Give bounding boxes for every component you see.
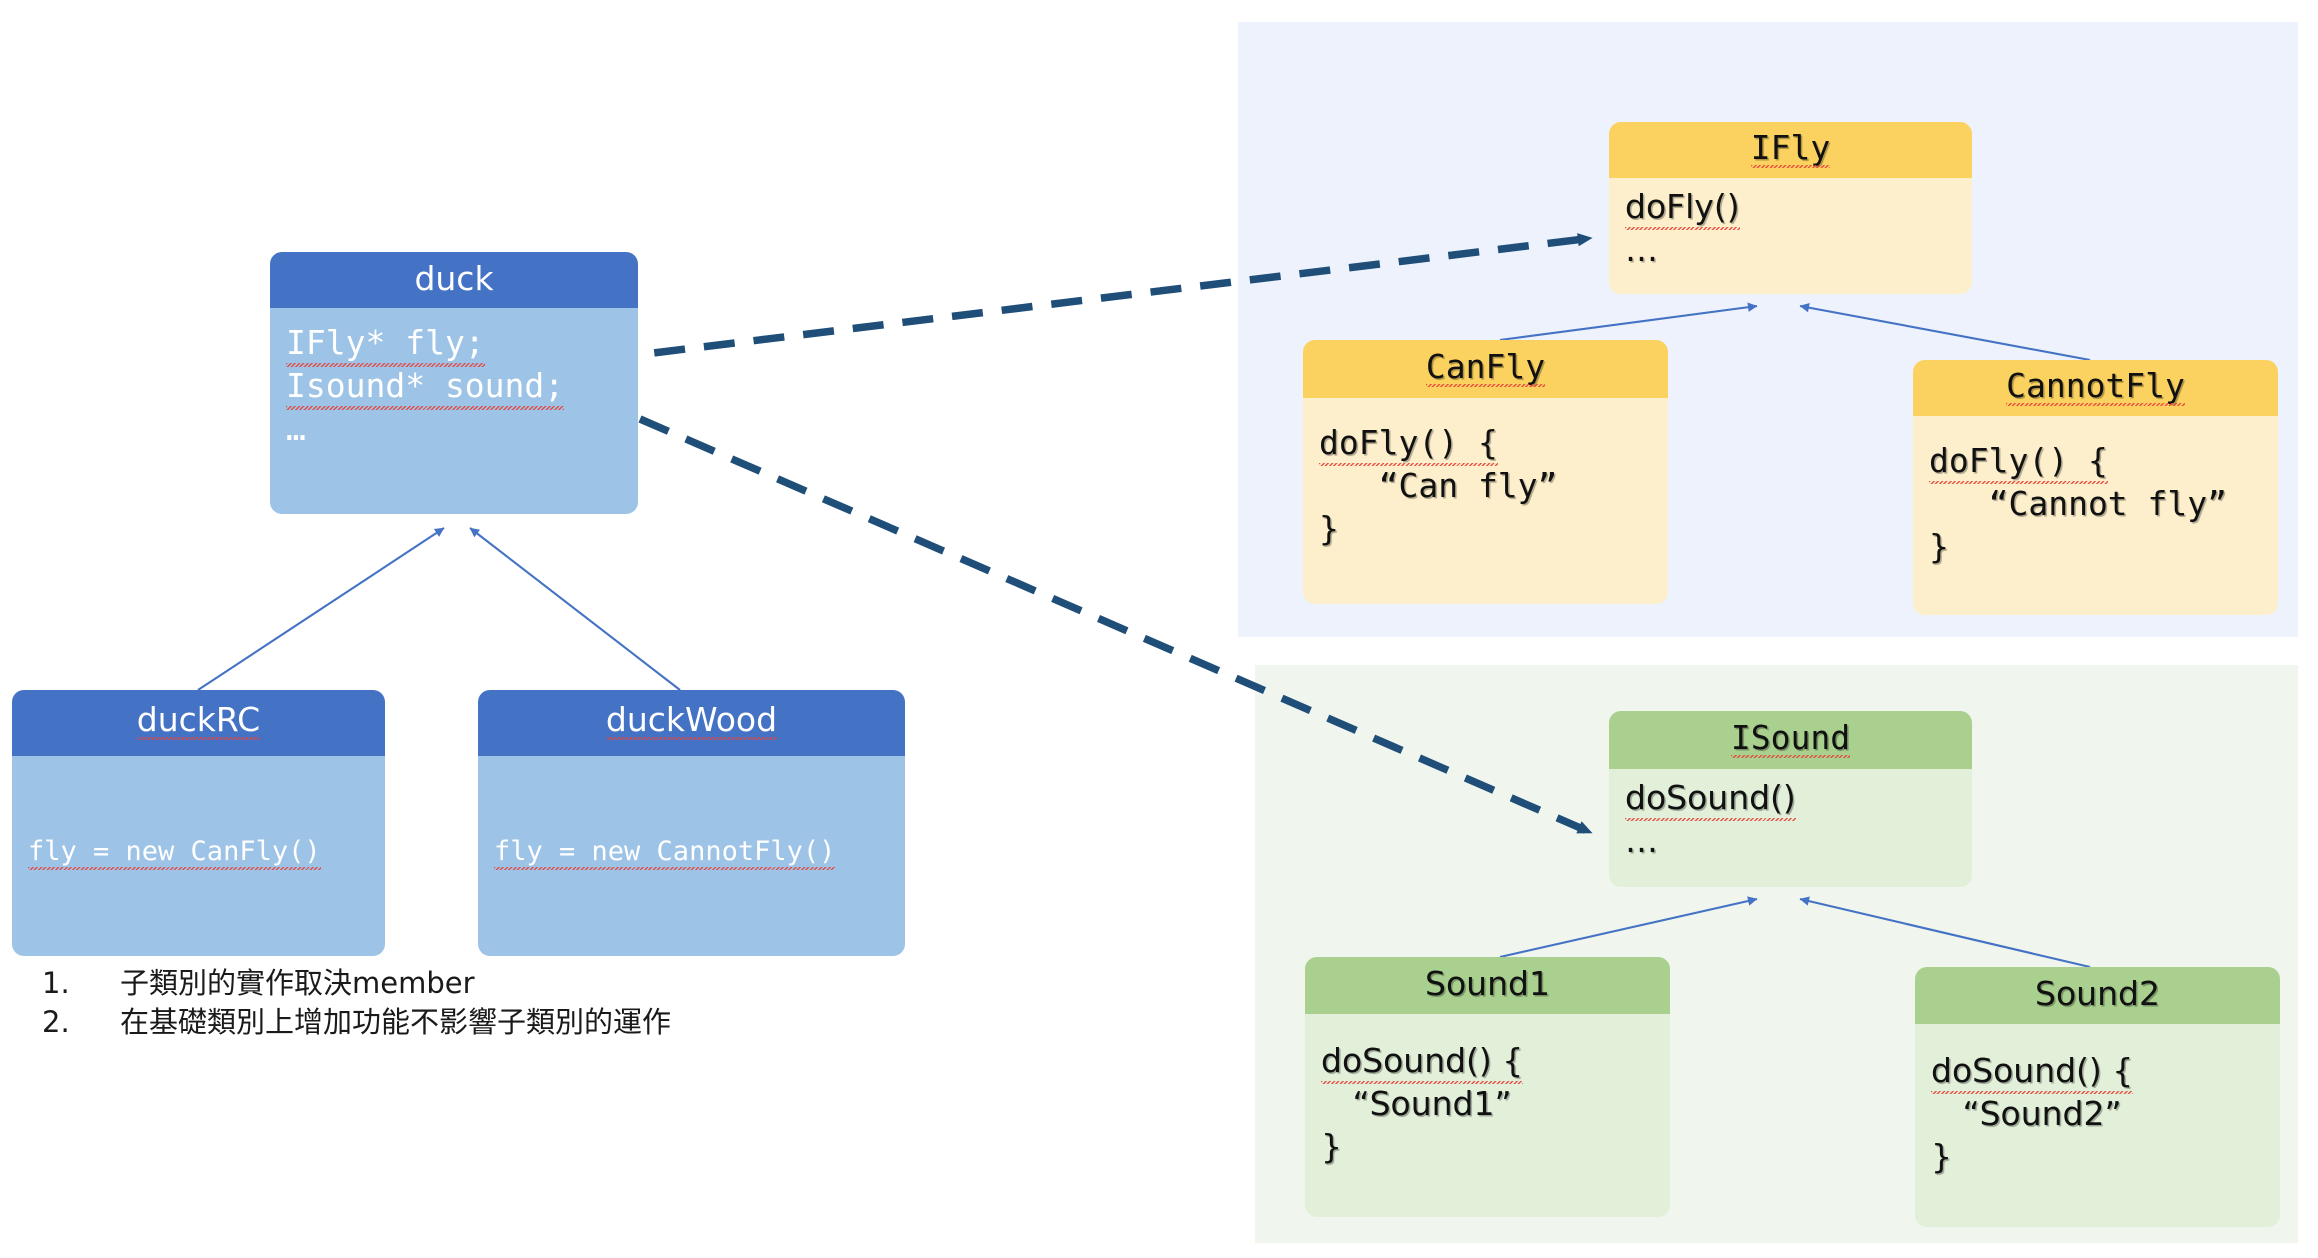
class-box-cannotfly[interactable]: CannotFly doFly() { “Cannot fly” }: [1913, 360, 2278, 615]
member-canfly-close: }: [1319, 509, 1339, 548]
class-members-isound: doSound() …: [1609, 769, 1972, 887]
class-name-sound2: Sound2: [1915, 967, 2280, 1024]
member-ellipsis-duck: …: [286, 409, 306, 448]
note-text: 子類別的實作取決member: [120, 964, 671, 1003]
class-name-duckwood: duckWood: [478, 690, 905, 756]
class-name-ifly: IFly: [1609, 122, 1972, 178]
class-name-duck: duck: [270, 252, 638, 308]
note-text: 在基礎類別上增加功能不影響子類別的運作: [120, 1003, 671, 1042]
class-members-duckrc: fly = new CanFly(): [12, 756, 385, 956]
class-name-cannotfly: CannotFly: [1913, 360, 2278, 416]
edge-duckrc-to-duck: [198, 528, 444, 690]
class-box-duckrc[interactable]: duckRC fly = new CanFly(): [12, 690, 385, 956]
note-item: 1. 子類別的實作取決member: [42, 964, 671, 1003]
class-box-duckwood[interactable]: duckWood fly = new CannotFly(): [478, 690, 905, 956]
note-number: 1.: [42, 964, 120, 1003]
class-name-isound: ISound: [1609, 711, 1972, 769]
class-members-ifly: doFly() …: [1609, 178, 1972, 294]
member-dosound-sound2: doSound() {: [1931, 1050, 2133, 1093]
edge-duckwood-to-duck: [470, 528, 680, 690]
note-item: 2. 在基礎類別上增加功能不影響子類別的運作: [42, 1003, 671, 1042]
member-dofly: doFly(): [1625, 186, 1740, 229]
member-dofly-cannotfly: doFly() {: [1929, 440, 2108, 483]
class-members-canfly: doFly() { “Can fly” }: [1303, 398, 1668, 604]
class-members-duck: IFly* fly; Isound* sound; …: [270, 308, 638, 514]
member-isound-sound: Isound* sound;: [286, 365, 564, 408]
member-ifly-fly: IFly* fly;: [286, 322, 485, 365]
diagram-canvas: duck IFly* fly; Isound* sound; … duckRC …: [0, 0, 2318, 1258]
member-sound1-close: }: [1321, 1127, 1342, 1166]
class-name-duckrc: duckRC: [12, 690, 385, 756]
member-sound2-literal: “Sound2”: [1931, 1094, 2122, 1133]
class-members-duckwood: fly = new CannotFly(): [478, 756, 905, 956]
member-sound1-literal: “Sound1”: [1321, 1084, 1512, 1123]
member-cannotfly-close: }: [1929, 527, 1949, 566]
member-canfly-literal: “Can fly”: [1319, 466, 1557, 505]
member-ellipsis-ifly: …: [1625, 230, 1658, 269]
class-name-canfly: CanFly: [1303, 340, 1668, 398]
class-box-canfly[interactable]: CanFly doFly() { “Can fly” }: [1303, 340, 1668, 604]
class-members-cannotfly: doFly() { “Cannot fly” }: [1913, 416, 2278, 615]
member-ellipsis-isound: …: [1625, 821, 1658, 860]
member-dosound: doSound(): [1625, 777, 1796, 820]
member-dosound-sound1: doSound() {: [1321, 1040, 1523, 1083]
class-members-sound2: doSound() { “Sound2” }: [1915, 1024, 2280, 1227]
class-box-isound[interactable]: ISound doSound() …: [1609, 711, 1972, 887]
member-dofly-canfly: doFly() {: [1319, 422, 1498, 465]
class-box-sound2[interactable]: Sound2 doSound() { “Sound2” }: [1915, 967, 2280, 1227]
class-name-sound1: Sound1: [1305, 957, 1670, 1014]
notes-list: 1. 子類別的實作取決member 2. 在基礎類別上增加功能不影響子類別的運作: [42, 964, 671, 1041]
member-sound2-close: }: [1931, 1137, 1952, 1176]
class-members-sound1: doSound() { “Sound1” }: [1305, 1014, 1670, 1217]
class-box-duck[interactable]: duck IFly* fly; Isound* sound; …: [270, 252, 638, 514]
member-cannotfly-literal: “Cannot fly”: [1929, 484, 2227, 523]
class-box-ifly[interactable]: IFly doFly() …: [1609, 122, 1972, 294]
class-box-sound1[interactable]: Sound1 doSound() { “Sound1” }: [1305, 957, 1670, 1217]
note-number: 2.: [42, 1003, 120, 1042]
